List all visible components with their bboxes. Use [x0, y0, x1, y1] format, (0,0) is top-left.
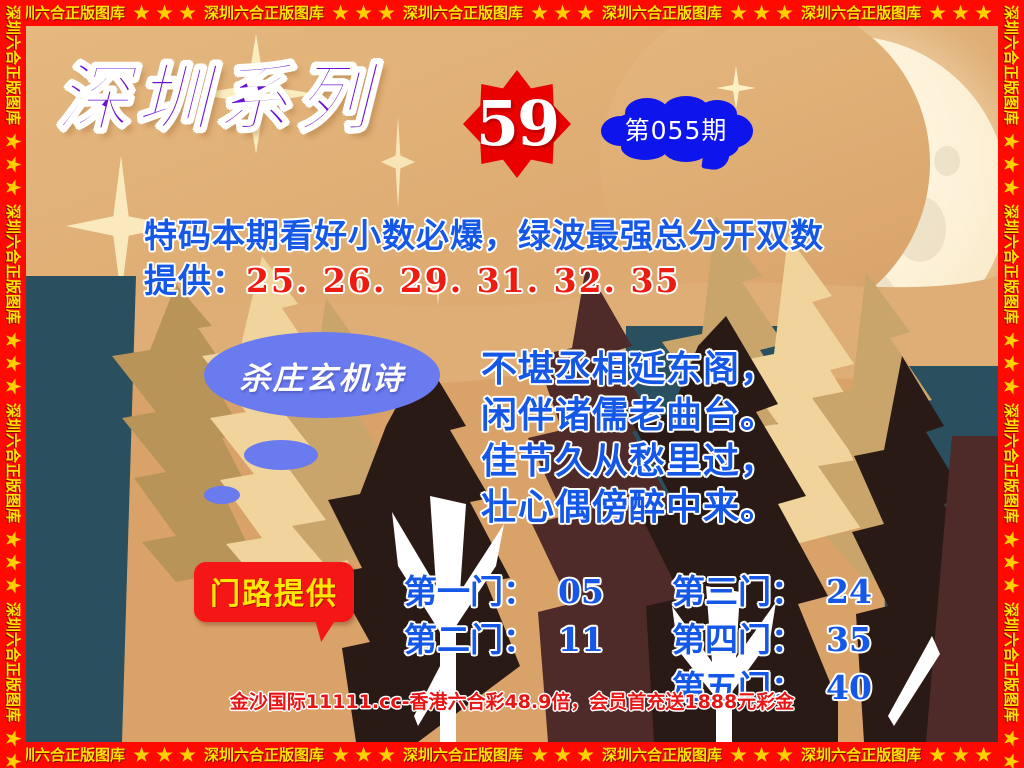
- star-icon: [753, 747, 770, 764]
- star-icon: [378, 747, 395, 764]
- star-icon: [378, 5, 395, 22]
- gate-row: 第三门：24: [672, 568, 872, 616]
- star-icon: [5, 554, 22, 571]
- star-icon: [1003, 753, 1020, 768]
- gates-label-badge: 门路提供: [194, 562, 354, 622]
- star-icon: [5, 179, 22, 196]
- star-icon: [776, 747, 793, 764]
- star-icon: [5, 378, 22, 395]
- watermark-text: 深圳六合正版图库: [796, 742, 926, 768]
- gate-value: 24: [826, 572, 872, 611]
- star-icon: [5, 156, 22, 173]
- watermark-text: 深圳六合正版图库: [0, 398, 26, 528]
- watermark-text: 深圳六合正版图库: [0, 0, 26, 130]
- gate-value: 05: [558, 572, 604, 611]
- star-icon: [355, 747, 372, 764]
- watermark-text: 深圳六合正版图库: [199, 742, 329, 768]
- watermark-border-right: 深圳六合正版图库深圳六合正版图库深圳六合正版图库深圳六合正版图库深圳六合正版图库…: [998, 0, 1024, 768]
- watermark-text: 深圳六合正版图库: [597, 0, 727, 26]
- star-icon: [5, 577, 22, 594]
- poem-title-bubble: 杀庄玄机诗: [204, 332, 440, 418]
- star-icon: [5, 730, 22, 747]
- star-icon: [133, 747, 150, 764]
- star-icon: [156, 747, 173, 764]
- watermark-text: 深圳六合正版图库: [796, 0, 926, 26]
- poem-title-text: 杀庄玄机诗: [240, 353, 405, 398]
- star-icon: [730, 747, 747, 764]
- gate-row: 第四门：35: [672, 616, 872, 664]
- star-icon: [5, 753, 22, 768]
- headline-numbers: 25. 26. 29. 31. 32. 35: [246, 261, 680, 300]
- star-icon: [730, 5, 747, 22]
- gate-value: 11: [558, 620, 604, 659]
- watermark-text: 深圳六合正版图库: [0, 597, 26, 727]
- gates-label-box: 门路提供: [194, 562, 354, 622]
- gate-row: 第二门：11: [404, 616, 604, 664]
- headline-line-2: 提供：25. 26. 29. 31. 32. 35: [144, 259, 994, 304]
- watermark-text: 深圳六合正版图库: [398, 742, 528, 768]
- watermark-text: 深圳六合正版图库: [0, 199, 26, 329]
- star-icon: [952, 5, 969, 22]
- star-icon: [531, 5, 548, 22]
- star-icon: [1003, 179, 1020, 196]
- star-icon: [975, 747, 992, 764]
- star-icon: [1003, 531, 1020, 548]
- watermark-text: 深圳六合正版图库: [597, 742, 727, 768]
- star-icon: [5, 531, 22, 548]
- gates-label-text: 门路提供: [210, 577, 338, 612]
- star-icon: [975, 5, 992, 22]
- star-icon: [1003, 156, 1020, 173]
- star-icon: [133, 5, 150, 22]
- watermark-border-top: 深圳六合正版图库深圳六合正版图库深圳六合正版图库深圳六合正版图库深圳六合正版图库…: [0, 0, 1024, 26]
- poem-line-1: 不堪丞相延东阁，: [481, 346, 777, 392]
- poem-line-4: 壮心偶傍醉中来。: [481, 484, 777, 530]
- watermark-text: 深圳六合正版图库: [998, 199, 1024, 329]
- watermark-text: 深圳六合正版图库: [998, 398, 1024, 528]
- watermark-border-left: 深圳六合正版图库深圳六合正版图库深圳六合正版图库深圳六合正版图库深圳六合正版图库…: [0, 0, 26, 768]
- headline-line-1: 特码本期看好小数必爆，绿波最强总分开双数: [144, 214, 994, 259]
- star-icon: [554, 5, 571, 22]
- poem-title-bubble-body: 杀庄玄机诗: [204, 332, 440, 418]
- watermark-border-bottom: 深圳六合正版图库深圳六合正版图库深圳六合正版图库深圳六合正版图库深圳六合正版图库…: [0, 742, 1024, 768]
- poem-title-bubble-dot-large: [244, 440, 318, 470]
- star-icon: [554, 747, 571, 764]
- watermark-text: 深圳六合正版图库: [998, 597, 1024, 727]
- star-icon: [952, 747, 969, 764]
- gate-label: 第一门：: [404, 572, 536, 611]
- star-icon: [1003, 133, 1020, 150]
- poem-line-3: 佳节久从愁里过，: [481, 438, 777, 484]
- star-icon: [179, 747, 196, 764]
- watermark-text: 深圳六合正版图库: [998, 0, 1024, 130]
- footer-ad-text: 金沙国际11111.cc-香港六合彩48.9倍，会员首充送1888元彩金: [26, 687, 998, 714]
- gate-label: 第二门：: [404, 620, 536, 659]
- star-icon: [332, 5, 349, 22]
- star-icon: [1003, 378, 1020, 395]
- star-icon: [355, 5, 372, 22]
- gate-value: 35: [826, 620, 872, 659]
- star-icon: [332, 747, 349, 764]
- star-icon: [929, 5, 946, 22]
- star-icon: [1003, 554, 1020, 571]
- watermark-text: 深圳六合正版图库: [398, 0, 528, 26]
- issue-label: 第055期: [601, 96, 751, 162]
- scene-background: 深圳系列 59 第055期 特码本期看好小数必爆，绿波最强总分开双数 提供：25…: [26, 26, 998, 742]
- page-title: 深圳系列: [56, 62, 376, 136]
- star-icon: [1003, 577, 1020, 594]
- poem-block: 不堪丞相延东阁， 闲伴诸儒老曲台。 佳节久从愁里过， 壮心偶傍醉中来。: [481, 346, 777, 530]
- star-icon: [156, 5, 173, 22]
- poem-title-bubble-dot-small: [204, 486, 240, 504]
- issue-bubble: 第055期: [601, 96, 751, 162]
- headline-block: 特码本期看好小数必爆，绿波最强总分开双数 提供：25. 26. 29. 31. …: [144, 214, 994, 303]
- gates-column-left: 第一门：05 第二门：11: [404, 568, 604, 664]
- gate-label: 第四门：: [672, 620, 804, 659]
- star-icon: [5, 332, 22, 349]
- gate-label: 第三门：: [672, 572, 804, 611]
- gate-row: 第一门：05: [404, 568, 604, 616]
- poster-root: 深圳系列 59 第055期 特码本期看好小数必爆，绿波最强总分开双数 提供：25…: [0, 0, 1024, 768]
- star-icon: [929, 747, 946, 764]
- star-icon: [776, 5, 793, 22]
- star-icon: [577, 5, 594, 22]
- draw-number-value: 59: [476, 93, 558, 155]
- headline-provide-label: 提供：: [144, 261, 246, 300]
- star-icon: [179, 5, 196, 22]
- star-icon: [531, 747, 548, 764]
- star-icon: [1003, 332, 1020, 349]
- star-icon: [753, 5, 770, 22]
- star-icon: [5, 355, 22, 372]
- star-icon: [577, 747, 594, 764]
- poem-line-2: 闲伴诸儒老曲台。: [481, 392, 777, 438]
- star-icon: [1003, 355, 1020, 372]
- star-icon: [5, 133, 22, 150]
- watermark-text: 深圳六合正版图库: [199, 0, 329, 26]
- star-icon: [1003, 730, 1020, 747]
